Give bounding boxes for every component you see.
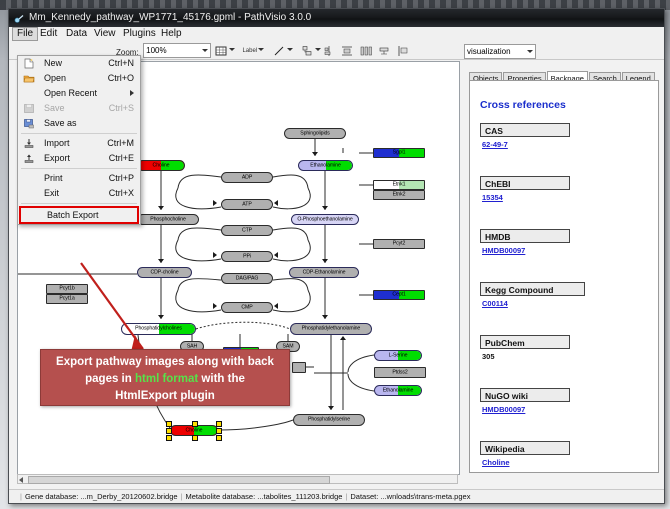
xref-nugo-wiki: NuGO wiki HMDB00097 bbox=[480, 388, 570, 414]
zoom-value: 100% bbox=[146, 46, 166, 55]
shape-tool-group: Label bbox=[214, 42, 324, 58]
xref-value[interactable]: HMDB00097 bbox=[480, 405, 570, 414]
open-folder-icon bbox=[23, 73, 35, 84]
menu-item-open-accel: Ctrl+O bbox=[108, 71, 134, 86]
menu-item-open-label: Open bbox=[44, 73, 66, 83]
node-label: ADP bbox=[222, 175, 272, 180]
gene-pcyt2[interactable]: Pcyt2 bbox=[373, 239, 425, 249]
selection-handle-se[interactable] bbox=[216, 435, 222, 441]
node-label: Choline bbox=[138, 163, 184, 168]
menu-separator-1 bbox=[21, 133, 137, 134]
scroll-left-arrow-icon[interactable] bbox=[19, 477, 23, 483]
gene-label: Sgpl1 bbox=[374, 150, 424, 155]
arrowhead-cdpetn-to-pe bbox=[322, 315, 328, 319]
menu-separator-2 bbox=[21, 168, 137, 169]
node-l-serine[interactable]: L-Serine bbox=[374, 350, 422, 361]
desktop-background: Mm_Kennedy_pathway_WP1771_45176.gpml - P… bbox=[0, 0, 670, 509]
menu-item-export[interactable]: Export Ctrl+E bbox=[18, 151, 140, 166]
gene-ptdss2[interactable]: Ptdss2 bbox=[374, 367, 426, 378]
annotation-callout: Export pathway images along with back pa… bbox=[40, 349, 290, 406]
menu-item-save: Save Ctrl+S bbox=[18, 101, 140, 116]
xref-label: PubChem bbox=[480, 335, 570, 349]
window-title: Mm_Kennedy_pathway_WP1771_45176.gpml - P… bbox=[29, 9, 311, 27]
node-phosphatidylserine[interactable]: Phosphatidylserine bbox=[293, 414, 365, 426]
menu-item-print-accel: Ctrl+P bbox=[109, 171, 134, 186]
import-icon bbox=[23, 138, 35, 149]
xref-pubchem: PubChem 305 bbox=[480, 335, 570, 361]
visualization-value: visualization bbox=[467, 47, 511, 56]
group-icon[interactable] bbox=[377, 44, 391, 58]
node-o-phosphoethanolamine[interactable]: O-Phosphoethanolamine bbox=[291, 214, 359, 225]
xref-value[interactable]: HMDB00097 bbox=[480, 246, 570, 255]
xref-kegg-compound: Kegg Compound C00114 bbox=[480, 282, 585, 308]
chevron-down-icon bbox=[527, 50, 533, 53]
xref-label: CAS bbox=[480, 123, 570, 137]
arrowhead-to-cmp-left bbox=[213, 303, 217, 309]
node-label: CDP-Ethanolamine bbox=[290, 270, 358, 275]
gene-sgpl1[interactable]: Sgpl1 bbox=[373, 148, 425, 158]
line-tool-chevron-icon[interactable] bbox=[287, 48, 293, 51]
status-gene-database: Gene database: ...m_Derby_20120602.bridg… bbox=[25, 492, 178, 501]
menu-item-new-accel: Ctrl+N bbox=[108, 56, 134, 71]
menu-plugins[interactable]: Plugins bbox=[119, 27, 160, 41]
callout-line-2-post: with the bbox=[198, 373, 245, 385]
gene-etnk2[interactable]: Etnk2 bbox=[373, 190, 425, 200]
menu-item-import-label: Import bbox=[44, 138, 70, 148]
gene-label: Etnk1 bbox=[374, 182, 424, 187]
xref-chebi: ChEBI 15354 bbox=[480, 176, 570, 202]
callout-line-3: HtmlExport plugin bbox=[41, 388, 289, 405]
line-tool-icon[interactable] bbox=[272, 44, 286, 58]
canvas-horizontal-scrollbar[interactable] bbox=[17, 474, 458, 484]
menu-view[interactable]: View bbox=[90, 27, 120, 41]
arrowhead-to-atp-right bbox=[274, 200, 278, 206]
gene-label: Cept1 bbox=[374, 292, 424, 297]
arrowhead-ps-to-pe bbox=[340, 336, 346, 340]
callout-line-2: pages in html format with the bbox=[41, 371, 289, 388]
callout-highlight: html format bbox=[135, 373, 198, 385]
menu-item-exit-label: Exit bbox=[44, 188, 59, 198]
node-phosphocholine[interactable]: Phosphocholine bbox=[137, 214, 199, 225]
xref-value[interactable]: 15354 bbox=[480, 193, 570, 202]
annotation-arrow bbox=[73, 257, 193, 362]
node-cdp-ethanolamine[interactable]: CDP-Ethanolamine bbox=[289, 267, 359, 278]
xref-label: HMDB bbox=[480, 229, 570, 243]
save-disk-icon bbox=[23, 103, 35, 114]
distribute-icon[interactable] bbox=[359, 44, 373, 58]
chevron-down-icon bbox=[202, 49, 208, 52]
status-metabolite-database: Metabolite database: ...tabolites_111203… bbox=[186, 492, 343, 501]
menu-item-save-as-label: Save as bbox=[44, 118, 77, 128]
arrowhead-pe-to-ps bbox=[328, 406, 334, 410]
gene-etnk1[interactable]: Etnk1 bbox=[373, 180, 425, 190]
node-label: O-Phosphoethanolamine bbox=[292, 217, 358, 222]
node-ppi[interactable]: PPi bbox=[221, 251, 273, 262]
xref-value[interactable]: 62-49-7 bbox=[480, 140, 570, 149]
arrowhead-ophospho-to-cdpetn bbox=[322, 259, 328, 263]
node-ethanolamine[interactable]: Ethanolamine bbox=[298, 160, 353, 171]
status-divider-0: | bbox=[17, 492, 25, 501]
save-as-icon bbox=[23, 118, 35, 129]
menu-item-new[interactable]: New Ctrl+N bbox=[18, 56, 140, 71]
title-bar: Mm_Kennedy_pathway_WP1771_45176.gpml - P… bbox=[9, 9, 664, 27]
xref-label: ChEBI bbox=[480, 176, 570, 190]
export-icon bbox=[23, 153, 35, 164]
xref-value[interactable]: C00114 bbox=[480, 299, 585, 308]
node-label: Phosphatidylserine bbox=[294, 417, 364, 422]
status-dataset: Dataset: ...wnloads\trans-meta.pgex bbox=[350, 492, 470, 501]
menu-item-import-accel: Ctrl+M bbox=[107, 136, 134, 151]
callout-line-2-pre: pages in bbox=[85, 373, 135, 385]
node-label: ATP bbox=[222, 202, 272, 207]
selection-handle-nw[interactable] bbox=[166, 421, 172, 427]
chevron-right-icon bbox=[130, 90, 134, 96]
zoom-combo[interactable]: 100% bbox=[143, 43, 211, 58]
shape-tool-chevron-icon[interactable] bbox=[229, 48, 235, 51]
arrowhead-to-cmp-right bbox=[274, 303, 278, 309]
node-cmp[interactable]: CMP bbox=[221, 302, 273, 313]
arrowhead-ethanolamine-to-ophospho bbox=[322, 206, 328, 210]
pathvisio-window: Mm_Kennedy_pathway_WP1771_45176.gpml - P… bbox=[8, 8, 665, 504]
menu-item-save-accel: Ctrl+S bbox=[109, 101, 134, 116]
gene-label: Ptdss2 bbox=[375, 370, 425, 375]
menu-item-exit[interactable]: Exit Ctrl+X bbox=[18, 186, 140, 201]
node-label: Phosphatidylethanolamine bbox=[291, 326, 371, 331]
node-atp[interactable]: ATP bbox=[221, 199, 273, 210]
menu-item-save-as[interactable]: Save as bbox=[18, 116, 140, 131]
node-ethanolamine-2[interactable]: Ethanolamine bbox=[374, 385, 422, 396]
arrowhead-sphingolipid-to-ethanolamine bbox=[312, 152, 318, 156]
selection-handle-ne[interactable] bbox=[216, 421, 222, 427]
node-label: PPi bbox=[222, 254, 272, 259]
shape-tool-icon[interactable] bbox=[214, 44, 228, 58]
node-label: Ethanolamine bbox=[375, 388, 421, 393]
menu-item-import[interactable]: Import Ctrl+M bbox=[18, 136, 140, 151]
node-label: Phosphocholine bbox=[138, 217, 198, 222]
menu-item-batch-export-label: Batch Export bbox=[47, 210, 99, 220]
menu-item-save-label: Save bbox=[44, 103, 65, 113]
arrowhead-to-ppi-left bbox=[213, 252, 217, 258]
node-label: CMP bbox=[222, 305, 272, 310]
node-dag-pag[interactable]: DAG/PAG bbox=[221, 273, 273, 284]
gene-cept1[interactable]: Cept1 bbox=[373, 290, 425, 300]
node-label: CTP bbox=[222, 228, 272, 233]
new-file-icon bbox=[23, 58, 35, 69]
xref-value[interactable]: Choline bbox=[480, 458, 570, 467]
status-bar: |Gene database: ...m_Derby_20120602.brid… bbox=[9, 489, 664, 503]
menu-item-open-recent[interactable]: Open Recent bbox=[18, 86, 140, 101]
selection-handle-sw[interactable] bbox=[166, 435, 172, 441]
arrowhead-to-atp-left bbox=[213, 200, 217, 206]
arrowhead-to-ppi-right bbox=[274, 252, 278, 258]
node-choline[interactable]: Choline bbox=[137, 160, 185, 171]
xref-wikipedia: Wikipedia Choline bbox=[480, 441, 570, 467]
anchor-tool-icon[interactable] bbox=[300, 44, 314, 58]
order-icon[interactable] bbox=[396, 44, 410, 58]
align-left-icon[interactable] bbox=[340, 44, 354, 58]
menu-item-open-recent-label: Open Recent bbox=[44, 88, 97, 98]
status-divider-1: | bbox=[178, 492, 186, 501]
side-panel-tabs: ObjectsPropertiesBackpageSearchLegend bbox=[469, 67, 656, 81]
menu-edit[interactable]: Edit bbox=[36, 27, 61, 41]
menu-item-batch-export[interactable]: Batch Export bbox=[19, 206, 139, 224]
label-tool-chevron-icon[interactable] bbox=[258, 48, 264, 51]
menu-bar: File Edit Data View Plugins Help bbox=[9, 27, 664, 42]
menu-item-new-label: New bbox=[44, 58, 62, 68]
visualization-group: visualization bbox=[464, 43, 536, 59]
side-panel: ObjectsPropertiesBackpageSearchLegend Cr… bbox=[465, 67, 664, 479]
node-phosphatidylethanolamine[interactable]: Phosphatidylethanolamine bbox=[290, 323, 372, 335]
menu-item-print-label: Print bbox=[44, 173, 63, 183]
node-label: Sphingolipids bbox=[285, 131, 345, 136]
node-label: L-Serine bbox=[375, 353, 421, 358]
gene-label: Pcyt2 bbox=[374, 241, 424, 246]
menu-item-exit-accel: Ctrl+X bbox=[109, 186, 134, 201]
align-tools-group bbox=[322, 42, 410, 58]
xref-cas: CAS 62-49-7 bbox=[480, 123, 570, 149]
scrollbar-thumb[interactable] bbox=[28, 476, 330, 484]
label-tool-label[interactable]: Label bbox=[242, 48, 257, 54]
arrowhead-choline-to-phosphocholine bbox=[158, 206, 164, 210]
menu-help[interactable]: Help bbox=[157, 27, 186, 41]
xref-value: 305 bbox=[480, 352, 570, 361]
node-sphingolipids[interactable]: Sphingolipids bbox=[284, 128, 346, 139]
node-label: Ethanolamine bbox=[299, 163, 352, 168]
selection-handle-s[interactable] bbox=[192, 435, 198, 441]
visualization-combo[interactable]: visualization bbox=[464, 44, 536, 59]
xref-label: Wikipedia bbox=[480, 441, 570, 455]
callout-line-1: Export pathway images along with back bbox=[41, 354, 289, 371]
node-ctp[interactable]: CTP bbox=[221, 225, 273, 236]
xref-label: Kegg Compound bbox=[480, 282, 585, 296]
pathvisio-app-icon bbox=[14, 13, 24, 23]
menu-separator-3 bbox=[21, 203, 137, 204]
reaction-anchor-box[interactable] bbox=[292, 362, 306, 373]
backpage-content: Cross references CAS 62-49-7 ChEBI 15354… bbox=[469, 80, 659, 473]
menu-file[interactable]: File bbox=[12, 27, 38, 41]
cross-references-heading: Cross references bbox=[480, 99, 566, 111]
file-menu-popup: New Ctrl+N Open Ctrl+O Open Recent Save … bbox=[17, 55, 141, 225]
menu-item-export-label: Export bbox=[44, 153, 70, 163]
align-center-icon[interactable] bbox=[322, 44, 336, 58]
gene-label: Etnk2 bbox=[374, 192, 424, 197]
menu-data[interactable]: Data bbox=[62, 27, 91, 41]
node-adp[interactable]: ADP bbox=[221, 172, 273, 183]
menu-item-export-accel: Ctrl+E bbox=[109, 151, 134, 166]
xref-label: NuGO wiki bbox=[480, 388, 570, 402]
menu-item-print[interactable]: Print Ctrl+P bbox=[18, 171, 140, 186]
xref-hmdb: HMDB HMDB00097 bbox=[480, 229, 570, 255]
node-label: DAG/PAG bbox=[222, 276, 272, 281]
node-label: Choline bbox=[171, 428, 217, 433]
menu-item-open[interactable]: Open Ctrl+O bbox=[18, 71, 140, 86]
anchor-tool-chevron-icon[interactable] bbox=[315, 48, 321, 51]
